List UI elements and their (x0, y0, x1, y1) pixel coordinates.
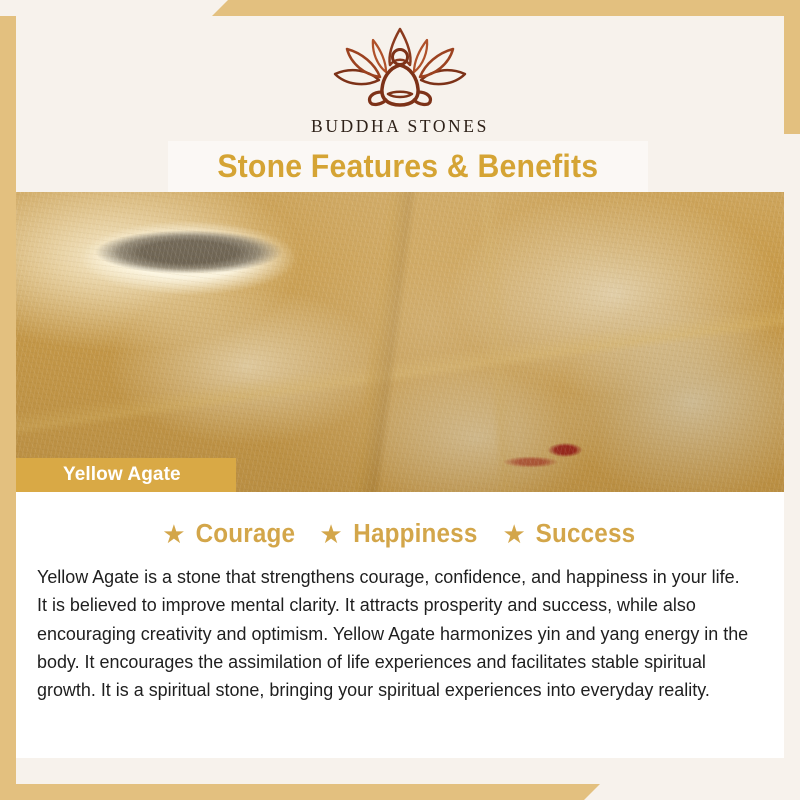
stone-texture-sheen (16, 192, 784, 492)
benefit-keywords: ★ Courage ★ Happiness ★ Success (16, 492, 784, 549)
benefit-keyword: ★ Courage (162, 520, 297, 549)
benefit-keyword: ★ Happiness (319, 520, 480, 549)
star-icon: ★ (503, 521, 526, 547)
stone-info-poster: BUDDHA STONES Stone Features & Benefits … (0, 0, 800, 800)
stone-name-ribbon: Yellow Agate (16, 458, 236, 492)
decorative-gold-border-right (784, 16, 800, 134)
content-panel: ★ Courage ★ Happiness ★ Success Yellow A… (16, 492, 784, 758)
benefit-keyword: ★ Success (503, 520, 638, 549)
stone-name-label: Yellow Agate (63, 464, 181, 486)
brand-logo: BUDDHA STONES (16, 22, 784, 137)
star-icon: ★ (319, 521, 342, 547)
benefit-keyword-label: Happiness (353, 520, 477, 549)
decorative-gold-band-top (0, 0, 800, 16)
stone-description: Yellow Agate is a stone that strengthens… (37, 563, 751, 705)
star-icon: ★ (162, 521, 185, 547)
title-banner: Stone Features & Benefits (168, 141, 648, 192)
benefit-keyword-label: Success (535, 520, 635, 549)
decorative-gold-border-left (0, 16, 16, 784)
benefit-keyword-label: Courage (195, 520, 295, 549)
decorative-gold-band-bottom (0, 784, 800, 800)
stone-image: Yellow Agate (16, 192, 784, 492)
lotus-meditation-icon (325, 22, 475, 114)
bottom-cream-strip (16, 758, 784, 784)
page-title: Stone Features & Benefits (218, 148, 599, 185)
poster-page: BUDDHA STONES Stone Features & Benefits … (16, 16, 784, 784)
brand-name: BUDDHA STONES (16, 116, 784, 137)
